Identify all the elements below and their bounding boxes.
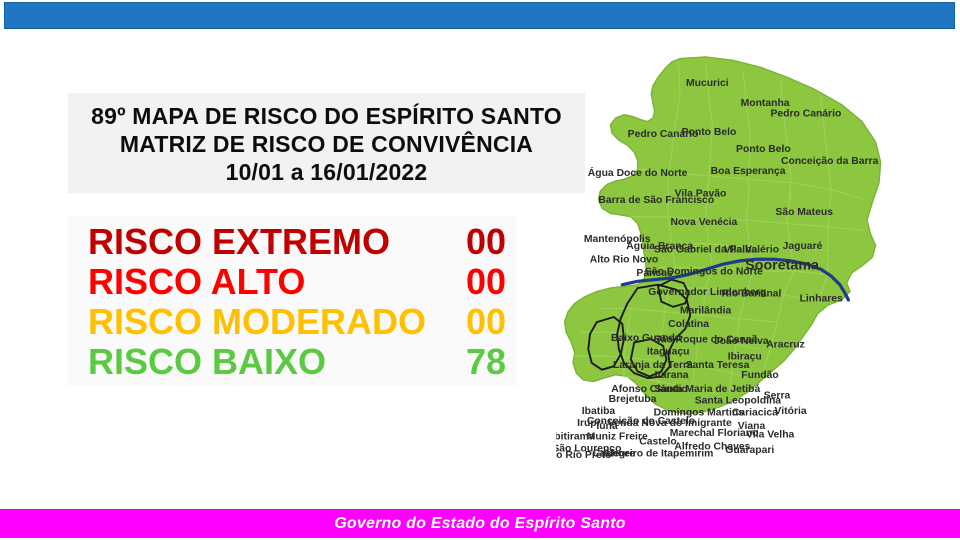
top-accent-band	[4, 2, 955, 29]
muni-label-vila-velha: Vila Velha	[746, 430, 794, 441]
muni-label-rio-bananal: Rio Bananal	[722, 289, 782, 300]
muni-label-colatina: Colatina	[668, 319, 709, 330]
muni-label-alto-rio-novo: Alto Rio Novo	[590, 255, 658, 266]
muni-label-marilandia: Marilândia	[680, 306, 731, 317]
muni-label-cariacica: Cariacica	[732, 408, 778, 419]
muni-label-santa-maria-de-jetiba: Santa Maria de Jetibá	[654, 384, 760, 395]
muni-label-linhares: Linhares	[800, 294, 843, 305]
title-box: 89º MAPA DE RISCO DO ESPÍRITO SANTO MATR…	[68, 93, 585, 193]
muni-label-fundao: Fundão	[741, 370, 778, 381]
muni-label-itaguacu: Itaguaçu	[647, 346, 690, 357]
risk-label-alto: RISCO ALTO	[88, 262, 305, 302]
risk-label-extremo: RISCO EXTREMO	[88, 222, 390, 262]
muni-label-serra: Serra	[764, 391, 791, 402]
muni-label-brejetuba: Brejetuba	[609, 394, 657, 405]
risk-label-baixo: RISCO BAIXO	[88, 342, 326, 382]
risk-row-moderado: RISCO MODERADO 00	[68, 302, 516, 342]
risk-row-baixo: RISCO BAIXO 78	[68, 342, 516, 382]
risk-row-extremo: RISCO EXTREMO 00	[68, 222, 516, 262]
muni-label-mucurici: Mucurici	[686, 78, 729, 89]
muni-label-itarana: Itarana	[655, 370, 689, 381]
risk-row-alto: RISCO ALTO 00	[68, 262, 516, 302]
muni-label-cachoeiro-de-itapemirim: Cachoeiro de Itapemirim	[592, 448, 713, 459]
muni-label-pinheiros: Ponto Belo	[736, 144, 791, 155]
title-line-2: MATRIZ DE RISCO DE CONVIVÊNCIA	[120, 130, 533, 158]
muni-label-boa-esperanca: Boa Esperança	[711, 166, 786, 177]
title-line-3: 10/01 a 16/01/2022	[226, 158, 428, 186]
risk-count-extremo: 00	[466, 222, 506, 262]
muni-label-guarapari: Guarapari	[725, 445, 774, 456]
espirito-santo-map: Mucurici Montanha Pedro Canário Pedro Ca…	[556, 50, 896, 465]
muni-label-santa-teresa: Santa Teresa	[686, 360, 750, 371]
muni-label-vitoria: Vitória	[775, 406, 807, 417]
muni-label-conceicao-da-barra: Conceição da Barra	[781, 156, 879, 167]
title-line-1: 89º MAPA DE RISCO DO ESPÍRITO SANTO	[91, 102, 562, 130]
muni-label-vila-pavao: Vila Pavão	[675, 188, 727, 199]
muni-label-sao-mateus: São Mateus	[775, 207, 833, 218]
muni-label-pedro-canario: Pedro Canário	[770, 108, 841, 119]
footer-text: Governo do Estado do Espírito Santo	[334, 515, 625, 533]
muni-label-castelo: Castelo	[639, 437, 676, 448]
muni-label-ponto-belo: Ponto Belo	[682, 127, 737, 138]
muni-label-jaguare: Jaguaré	[783, 241, 823, 252]
muni-label-aracruz: Aracruz	[766, 340, 805, 351]
muni-label-sooretama: Sooretama	[745, 257, 820, 273]
risk-count-alto: 00	[466, 262, 506, 302]
risk-count-moderado: 00	[466, 302, 506, 342]
risk-summary-box: RISCO EXTREMO 00 RISCO ALTO 00 RISCO MOD…	[68, 216, 516, 386]
muni-label-vila-valerio: Vila Valério	[724, 244, 779, 255]
footer-band: Governo do Estado do Espírito Santo	[0, 509, 960, 538]
muni-label-joao-neiva: João Neiva	[714, 336, 769, 347]
muni-label-agua-doce-do-norte: Água Doce do Norte	[588, 166, 688, 179]
risk-count-baixo: 78	[466, 342, 506, 382]
muni-label-nova-venecia: Nova Venécia	[670, 217, 737, 228]
risk-label-moderado: RISCO MODERADO	[88, 302, 426, 342]
